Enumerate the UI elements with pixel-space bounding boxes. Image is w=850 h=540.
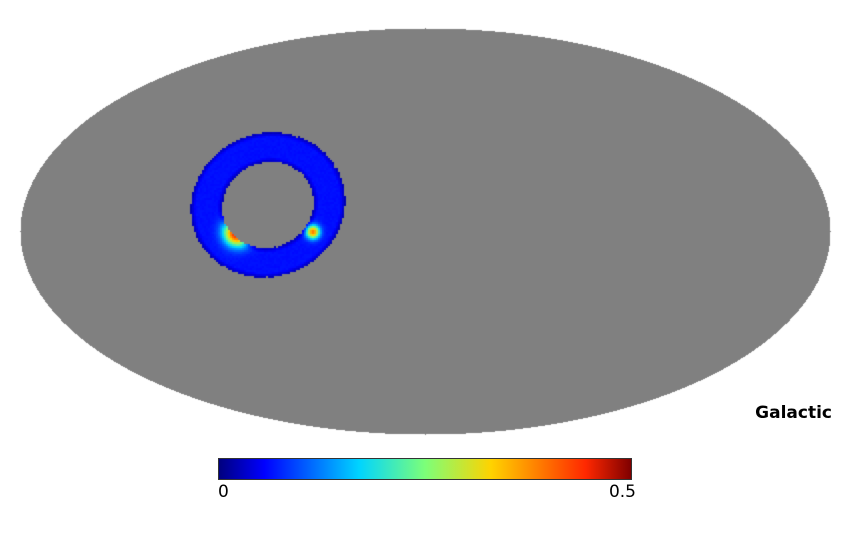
sky-map-figure: I Stokes Galactic 0 0.5 [0,0,850,540]
colorbar-gradient [218,458,632,480]
colorbar[interactable]: 0 0.5 [218,458,632,480]
coordinate-system-label: Galactic [0,403,832,423]
mollweide-sky-map [0,0,850,450]
colorbar-min-label: 0 [218,482,229,502]
colorbar-max-label: 0.5 [609,482,636,502]
